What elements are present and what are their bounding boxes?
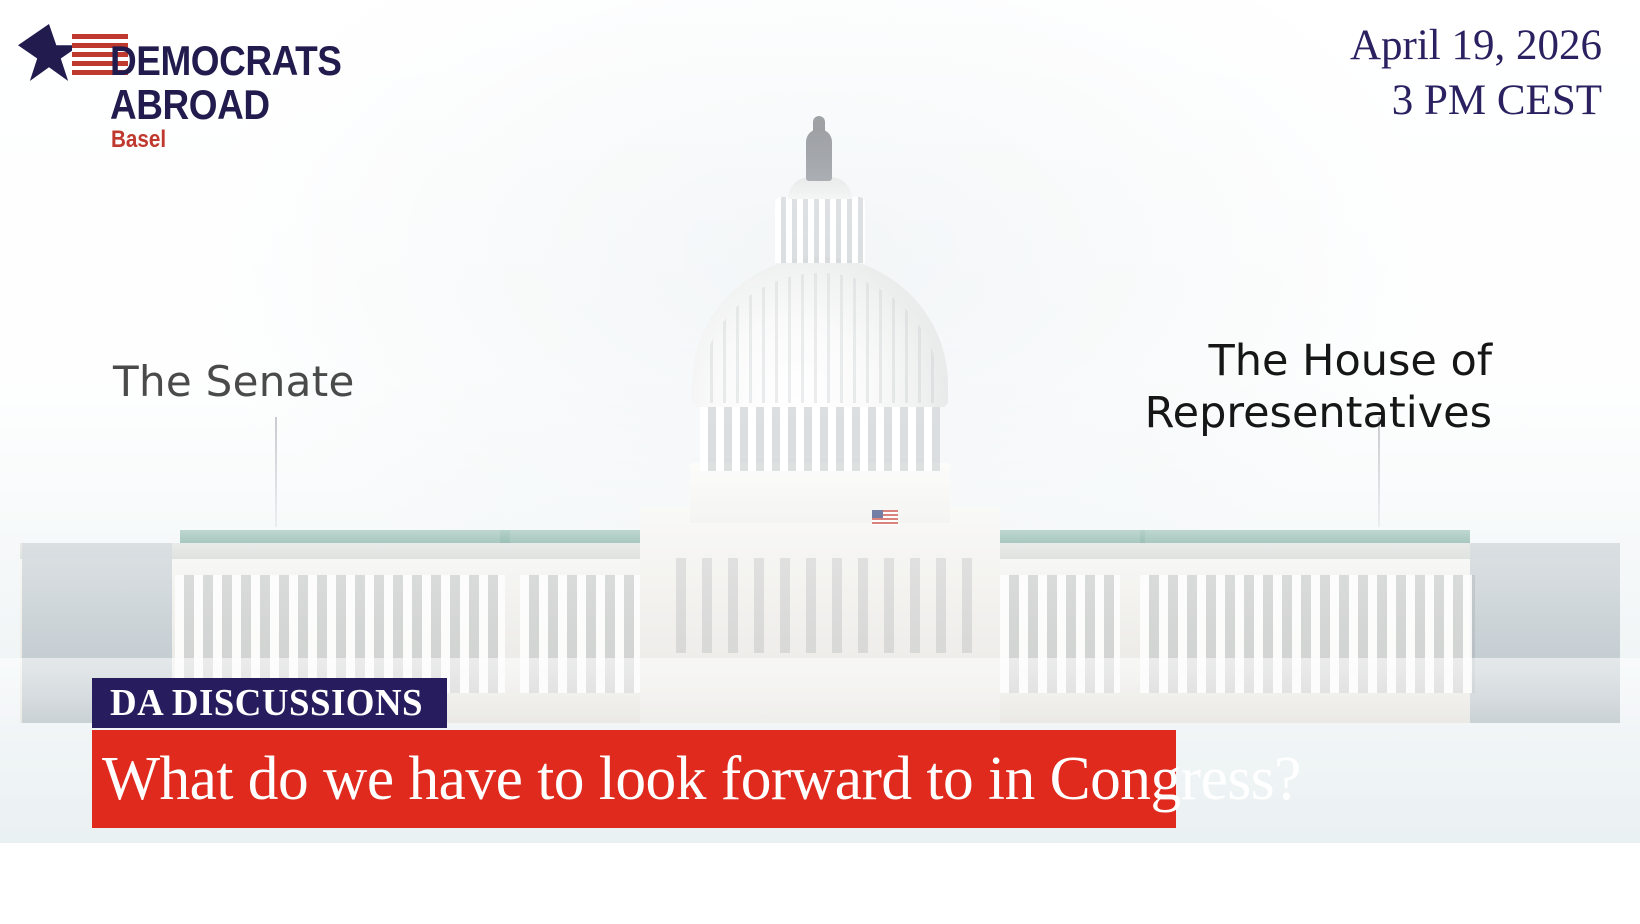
dome-peristyle-columns (700, 399, 940, 471)
flagpole-left (275, 417, 277, 527)
star-icon (18, 24, 80, 84)
us-flag-icon (872, 510, 898, 525)
dome-lantern (775, 197, 865, 263)
event-title-text: What do we have to look forward to in Co… (102, 748, 1301, 810)
label-the-house-of-representatives: The House of Representatives (1145, 336, 1492, 439)
capitol-central-windows (660, 558, 980, 653)
dome-drum (690, 463, 950, 523)
logo-word-abroad: ABROAD (110, 84, 270, 126)
copper-roof-left (180, 530, 510, 543)
event-time: 3 PM CEST (1350, 73, 1602, 128)
democrats-abroad-logo[interactable]: DEMOCRATS ABROAD Basel (18, 22, 288, 152)
label-the-senate: The Senate (113, 357, 355, 406)
logo-word-democrats: DEMOCRATS (110, 40, 341, 82)
series-kicker-text: DA DISCUSSIONS (110, 684, 423, 722)
event-date: April 19, 2026 (1350, 18, 1602, 73)
event-poster: DEMOCRATS ABROAD Basel April 19, 2026 3 … (0, 0, 1640, 924)
copper-roof-right (1140, 530, 1470, 543)
event-datetime: April 19, 2026 3 PM CEST (1350, 18, 1602, 128)
logo-chapter-basel: Basel (111, 128, 166, 152)
statue-of-freedom (806, 129, 832, 181)
series-kicker-banner: DA DISCUSSIONS (92, 678, 447, 728)
bottom-white-strip (0, 843, 1640, 924)
label-house-line-1: The House of (1145, 336, 1492, 388)
label-house-line-2: Representatives (1145, 388, 1492, 440)
event-title-banner: What do we have to look forward to in Co… (92, 730, 1176, 828)
